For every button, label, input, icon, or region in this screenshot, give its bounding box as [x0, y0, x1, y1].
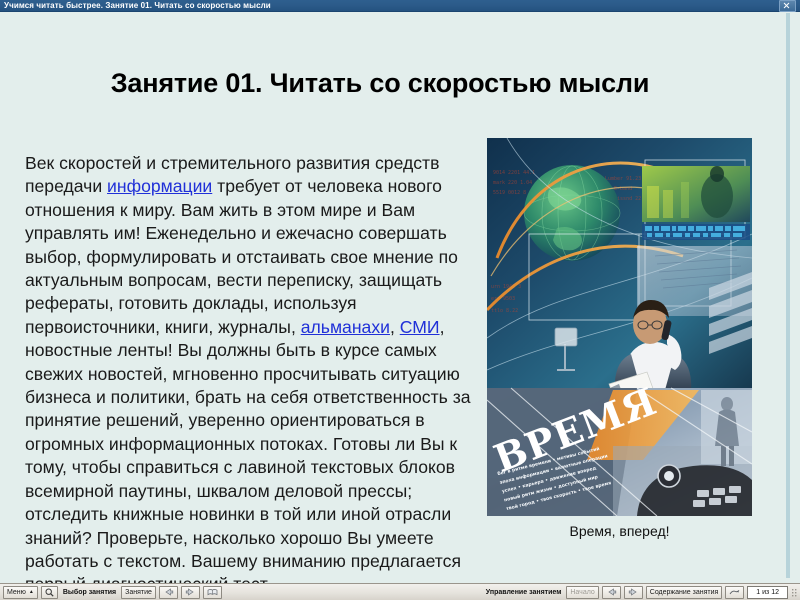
link-smi[interactable]: СМИ — [400, 317, 440, 337]
chevron-up-icon: ▲ — [29, 587, 34, 598]
lesson-button[interactable]: Занятие — [121, 586, 156, 599]
paragraph-part-4: , новостные ленты! Вы должны быть в курс… — [25, 317, 471, 594]
arrow-left-icon[interactable] — [159, 586, 178, 599]
page-title: Занятие 01. Читать со скоростью мысли — [0, 68, 760, 99]
window-title: Учимся читать быстрее. Занятие 01. Читат… — [0, 1, 779, 11]
prev-page-icon[interactable] — [602, 586, 621, 599]
svg-text:9014 2201 44.1: 9014 2201 44.1 — [493, 170, 535, 176]
right-edge-filler — [790, 13, 800, 578]
contents-button[interactable]: Содержание занятия — [646, 586, 723, 599]
arrow-right-icon[interactable] — [181, 586, 200, 599]
link-almanahi[interactable]: альманахи — [301, 317, 390, 337]
title-bar: Учимся читать быстрее. Занятие 01. Читат… — [0, 0, 800, 12]
manage-lesson-label: Управление занятием — [484, 589, 564, 596]
next-page-icon[interactable] — [624, 586, 643, 599]
svg-text:Lumber 91.23: Lumber 91.23 — [605, 176, 641, 182]
close-icon[interactable] — [779, 0, 796, 12]
resize-grip-icon[interactable] — [791, 586, 797, 599]
collage-illustration: 9014 2201 44.1 mark 220 1.04 5519 0012 8… — [487, 138, 752, 516]
toolbar-right-group: Управление занятием Начало Содержание за… — [484, 586, 800, 599]
page-curl-icon[interactable] — [725, 586, 744, 599]
link-informacii[interactable]: информации — [107, 176, 212, 196]
bottom-toolbar: Меню ▲ Выбор занятия Занятие — [0, 583, 800, 600]
page-indicator[interactable]: 1 из 12 — [747, 586, 788, 599]
svg-text:ttlo 8.22: ttlo 8.22 — [491, 308, 518, 314]
application-window: Учимся читать быстрее. Занятие 01. Читат… — [0, 0, 800, 600]
choose-lesson-label: Выбор занятия — [61, 589, 118, 596]
start-button[interactable]: Начало — [566, 586, 598, 599]
toolbar-left-group: Меню ▲ Выбор занятия Занятие — [0, 586, 222, 599]
paragraph-part-2: требует от человека нового отношения к м… — [25, 176, 458, 336]
lesson-paragraph: Век скоростей и стремительного развития … — [25, 152, 475, 597]
menu-button-label: Меню — [7, 587, 26, 598]
svg-text:mark 220 1.04: mark 220 1.04 — [493, 180, 532, 186]
svg-text:5519 0012 8: 5519 0012 8 — [493, 190, 526, 196]
search-icon[interactable] — [41, 586, 58, 599]
menu-button[interactable]: Меню ▲ — [3, 586, 38, 599]
paragraph-part-3: , — [390, 317, 400, 337]
book-icon[interactable] — [203, 586, 222, 599]
figure-caption: Время, вперед! — [487, 523, 752, 539]
slide-canvas: Занятие 01. Читать со скоростью мысли Ве… — [0, 13, 786, 575]
